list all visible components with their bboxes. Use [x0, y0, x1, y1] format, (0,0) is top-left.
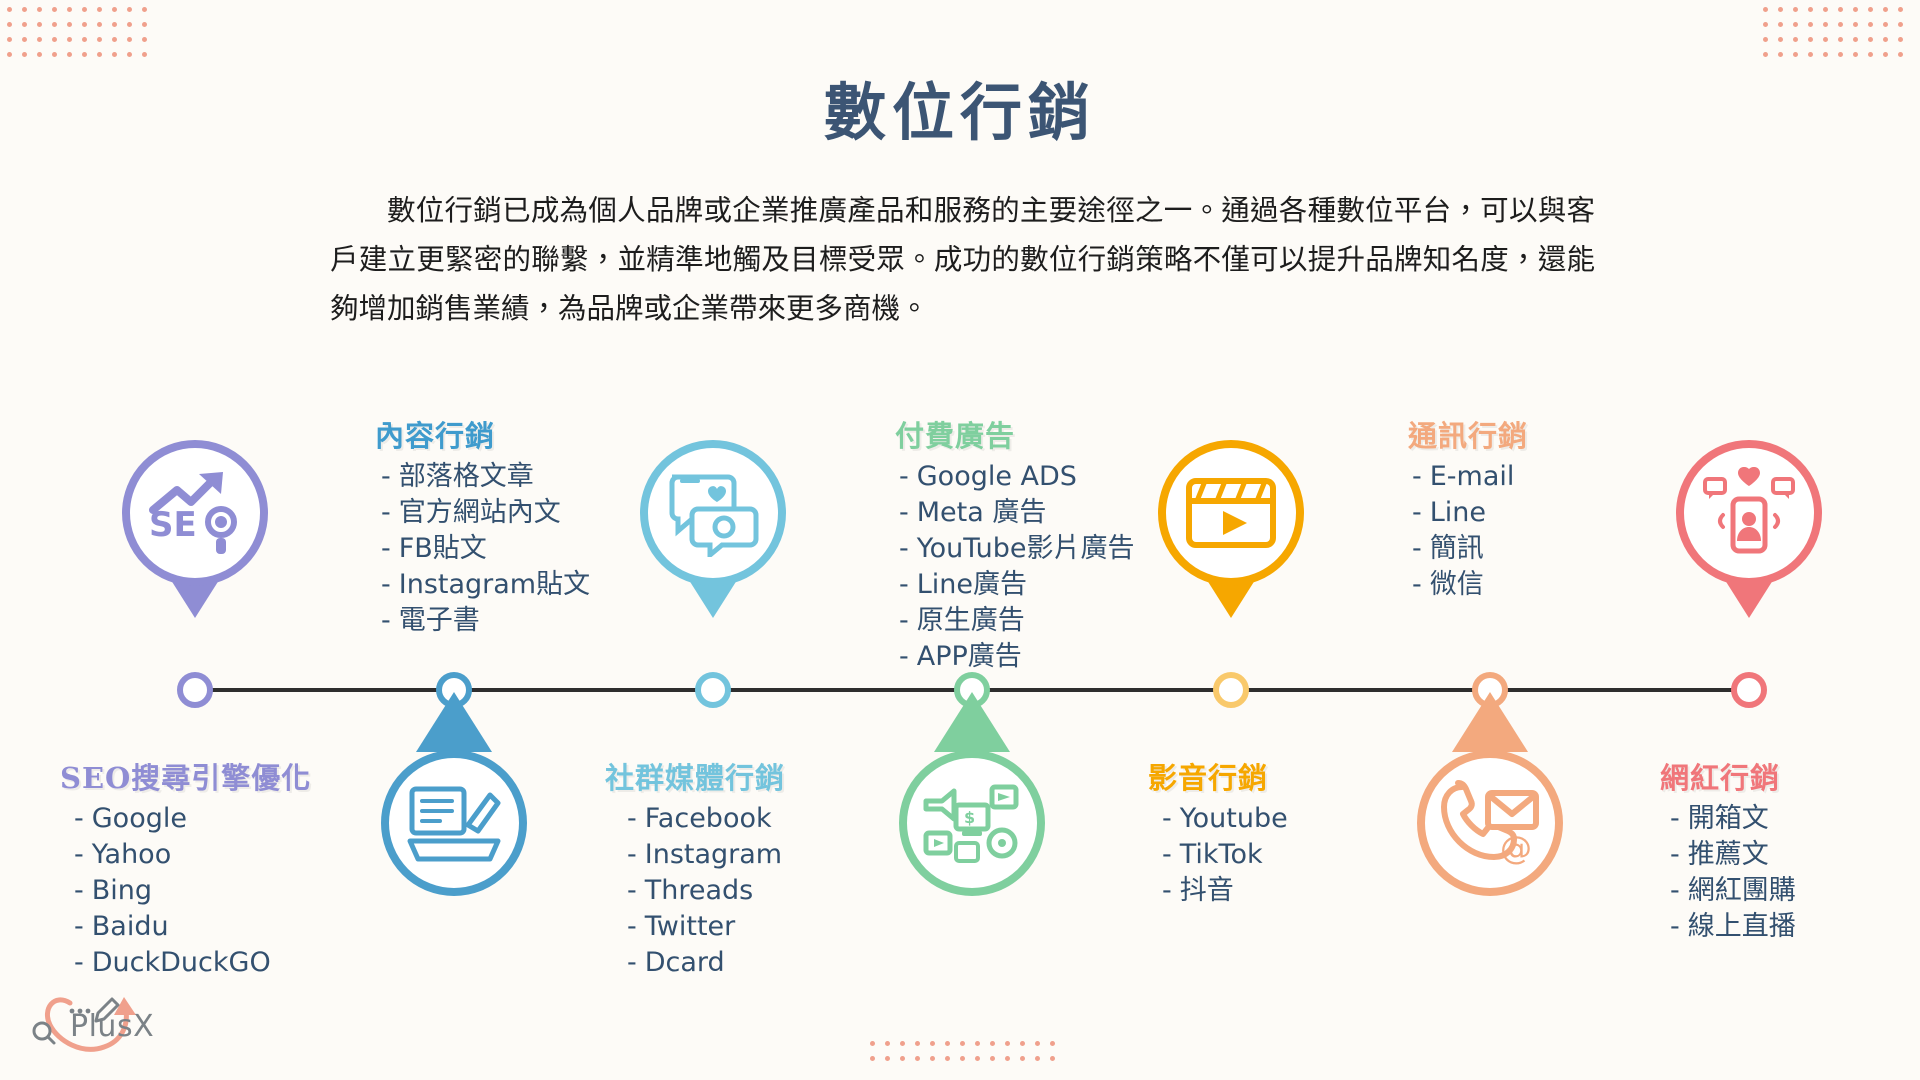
list-item: -Twitter: [627, 909, 785, 945]
dot-pattern-top-right: [1758, 2, 1908, 62]
influencer-phone-icon: [1701, 467, 1797, 559]
brand-logo[interactable]: PlusX: [18, 985, 168, 1065]
section-heading-content: 內容行銷: [375, 413, 590, 455]
video-player-icon: [1183, 473, 1279, 553]
intro-paragraph: 數位行銷已成為個人品牌或企業推廣產品和服務的主要途徑之一。通過各種數位平台，可以…: [330, 186, 1595, 333]
list-item: -原生廣告: [899, 603, 1135, 639]
drop-content[interactable]: [381, 750, 527, 896]
list-item: -Baidu: [74, 909, 311, 945]
list-item: -官方網站內文: [381, 495, 590, 531]
list-item: -簡訊: [1412, 531, 1528, 567]
drop-circle-messaging: @: [1417, 750, 1563, 896]
section-heading-messaging: 通訊行銷: [1408, 413, 1528, 455]
svg-text:$: $: [964, 808, 975, 827]
list-item: -Youtube: [1162, 801, 1288, 837]
seo-chart-icon: SE: [143, 466, 247, 560]
list-item: -Meta 廣告: [899, 495, 1135, 531]
section-influencer: 網紅行銷 -開箱文 -推薦文 -網紅團購 -線上直播: [1660, 755, 1796, 945]
list-item: -Facebook: [627, 801, 785, 837]
list-item: -Dcard: [627, 945, 785, 981]
section-heading-paid-ads: 付費廣告: [895, 413, 1135, 455]
drop-circle-paid-ads: $: [899, 750, 1045, 896]
section-list-paid-ads: -Google ADS -Meta 廣告 -YouTube影片廣告 -Line廣…: [895, 459, 1135, 675]
list-item: -E-mail: [1412, 459, 1528, 495]
section-heading-seo: SEO搜尋引擎優化: [60, 755, 311, 797]
section-list-social: -Facebook -Instagram -Threads -Twitter -…: [605, 801, 785, 981]
drop-tail-paid-ads: [934, 692, 1010, 752]
ads-megaphone-icon: $: [922, 777, 1022, 869]
pin-circle-social: [640, 440, 786, 586]
section-paid-ads: 付費廣告 -Google ADS -Meta 廣告 -YouTube影片廣告 -…: [895, 413, 1135, 675]
list-item: -部落格文章: [381, 459, 590, 495]
section-video: 影音行銷 -Youtube -TikTok -抖音: [1148, 755, 1288, 909]
section-list-content: -部落格文章 -官方網站內文 -FB貼文 -Instagram貼文 -電子書: [375, 459, 590, 639]
list-item: -Line: [1412, 495, 1528, 531]
list-item: -Google: [74, 801, 311, 837]
list-item: -網紅團購: [1670, 873, 1796, 909]
pin-seo[interactable]: SE: [122, 440, 268, 586]
pin-circle-video: [1158, 440, 1304, 586]
blog-document-icon: [406, 779, 502, 867]
dot-pattern-top-left: [2, 2, 152, 62]
timeline-node-video[interactable]: [1213, 672, 1249, 708]
list-item: -抖音: [1162, 873, 1288, 909]
list-item: -線上直播: [1670, 909, 1796, 945]
infographic-canvas: 數位行銷 數位行銷已成為個人品牌或企業推廣產品和服務的主要途徑之一。通過各種數位…: [0, 0, 1920, 1080]
timeline-node-seo[interactable]: [177, 672, 213, 708]
pin-video[interactable]: [1158, 440, 1304, 586]
timeline-node-influencer[interactable]: [1731, 672, 1767, 708]
list-item: -Bing: [74, 873, 311, 909]
section-list-influencer: -開箱文 -推薦文 -網紅團購 -線上直播: [1660, 801, 1796, 945]
section-social: 社群媒體行銷 -Facebook -Instagram -Threads -Tw…: [605, 755, 785, 981]
section-list-seo: -Google -Yahoo -Bing -Baidu -DuckDuckGO: [60, 801, 311, 981]
drop-circle-content: [381, 750, 527, 896]
chat-bubbles-icon: [664, 469, 762, 557]
logo-wordmark: PlusX: [70, 1009, 154, 1044]
section-list-messaging: -E-mail -Line -簡訊 -微信: [1408, 459, 1528, 603]
drop-paid-ads[interactable]: $: [899, 750, 1045, 896]
list-item: -APP廣告: [899, 639, 1135, 675]
email-phone-icon: @: [1440, 779, 1540, 867]
svg-text:@: @: [1500, 829, 1532, 867]
list-item: -DuckDuckGO: [74, 945, 311, 981]
pin-influencer[interactable]: [1676, 440, 1822, 586]
drop-tail-content: [416, 692, 492, 752]
list-item: -Threads: [627, 873, 785, 909]
list-item: -Google ADS: [899, 459, 1135, 495]
list-item: -電子書: [381, 603, 590, 639]
list-item: -TikTok: [1162, 837, 1288, 873]
list-item: -開箱文: [1670, 801, 1796, 837]
section-heading-influencer: 網紅行銷: [1660, 755, 1796, 797]
section-messaging: 通訊行銷 -E-mail -Line -簡訊 -微信: [1408, 413, 1528, 603]
timeline-node-social[interactable]: [695, 672, 731, 708]
pin-social[interactable]: [640, 440, 786, 586]
list-item: -Instagram: [627, 837, 785, 873]
section-seo: SEO搜尋引擎優化 -Google -Yahoo -Bing -Baidu -D…: [60, 755, 311, 981]
list-item: -YouTube影片廣告: [899, 531, 1135, 567]
list-item: -Line廣告: [899, 567, 1135, 603]
list-item: -推薦文: [1670, 837, 1796, 873]
page-title: 數位行銷: [0, 62, 1920, 152]
drop-messaging[interactable]: @: [1417, 750, 1563, 896]
list-item: -微信: [1412, 567, 1528, 603]
svg-text:SE: SE: [149, 505, 197, 545]
section-content: 內容行銷 -部落格文章 -官方網站內文 -FB貼文 -Instagram貼文 -…: [375, 413, 590, 639]
drop-tail-messaging: [1452, 692, 1528, 752]
section-list-video: -Youtube -TikTok -抖音: [1148, 801, 1288, 909]
pin-circle-seo: SE: [122, 440, 268, 586]
section-heading-video: 影音行銷: [1148, 755, 1288, 797]
dot-pattern-bottom-center: [865, 1036, 1060, 1066]
list-item: -Yahoo: [74, 837, 311, 873]
list-item: -Instagram貼文: [381, 567, 590, 603]
pin-circle-influencer: [1676, 440, 1822, 586]
section-heading-social: 社群媒體行銷: [605, 755, 785, 797]
list-item: -FB貼文: [381, 531, 590, 567]
